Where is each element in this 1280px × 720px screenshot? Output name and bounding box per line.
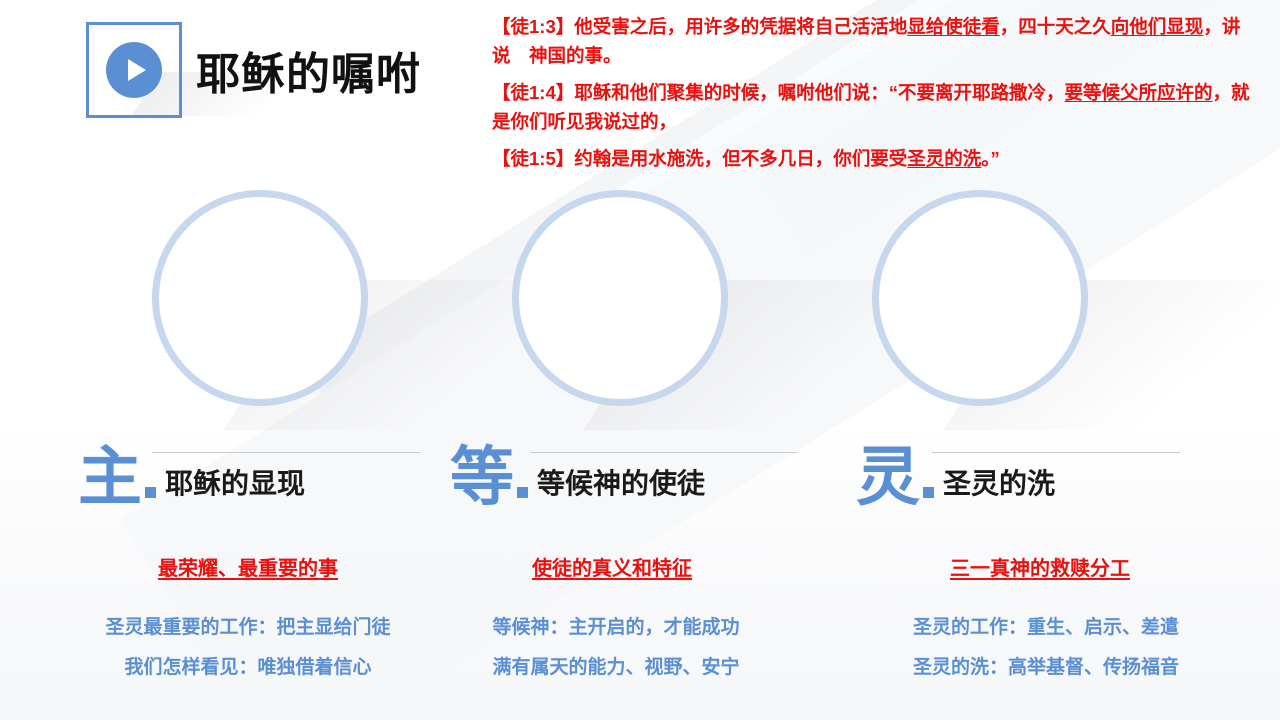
- scripture-emphasis: 圣灵的洗: [907, 148, 981, 169]
- square-dot-icon: [923, 487, 934, 498]
- scripture-text: 。”: [981, 148, 1000, 169]
- frame-corner-icon: [149, 85, 182, 118]
- scripture-text: 约翰是用水施洗，但不多几日，你们要受: [574, 148, 907, 169]
- photo-jesus-appearing: [152, 190, 368, 406]
- play-disc: [106, 42, 162, 98]
- column-subheading: 圣灵的洗: [943, 462, 1055, 507]
- frame-edge: [116, 115, 152, 118]
- scripture-block: 【徒1:3】他受害之后，用许多的凭据将自己活活地显给使徒看，四十天之久向他们显现…: [492, 12, 1254, 173]
- list-item: 我们怎样看见：唯独借着信心: [48, 648, 448, 688]
- column-heading: 等 等候神的使徒: [450, 448, 705, 507]
- play-triangle-icon: [128, 59, 146, 81]
- scripture-text: ，四十天之久: [1000, 16, 1111, 37]
- list-item: 等候神：主开启的，才能成功: [416, 608, 816, 648]
- column-heading: 灵 圣灵的洗: [856, 448, 1055, 507]
- photo-cross-sunrise: [872, 190, 1088, 406]
- column-big-char: 等: [450, 448, 514, 507]
- column-bullets: 等候神：主开启的，才能成功 满有属天的能力、视野、安宁: [416, 608, 816, 688]
- page-title: 耶稣的嘱咐: [196, 38, 421, 102]
- photo-ring: [512, 190, 728, 406]
- list-item: 圣灵的工作：重生、启示、差遣: [846, 608, 1246, 648]
- scripture-text: 他受害之后，用许多的凭据将自己活活地: [574, 16, 907, 37]
- column-subheading: 耶稣的显现: [165, 462, 305, 507]
- column-big-char: 主: [78, 448, 142, 507]
- column-big-char: 灵: [856, 448, 920, 507]
- column-red-line: 三一真神的救赎分工: [840, 552, 1240, 581]
- frame-edge: [179, 52, 182, 88]
- content-columns: 主 耶稣的显现 最荣耀、最重要的事 圣灵最重要的工作：把主显给门徒 我们怎样看见…: [0, 440, 1280, 720]
- photo-ring: [152, 190, 368, 406]
- square-dot-icon: [145, 487, 156, 498]
- column-heading: 主 耶稣的显现: [78, 448, 305, 507]
- list-item: 满有属天的能力、视野、安宁: [416, 648, 816, 688]
- scripture-emphasis: 向他们显现: [1111, 16, 1204, 37]
- scripture-reference: 【徒1:3】: [492, 16, 574, 37]
- column-red-line: 使徒的真义和特征: [412, 552, 812, 581]
- column-bullets: 圣灵的工作：重生、启示、差遣 圣灵的洗：高举基督、传扬福音: [846, 608, 1246, 688]
- column-subheading: 等候神的使徒: [537, 462, 705, 507]
- scripture-reference: 【徒1:5】: [492, 148, 574, 169]
- list-item: 圣灵最重要的工作：把主显给门徒: [48, 608, 448, 648]
- photo-soaring-eagle: [512, 190, 728, 406]
- scripture-text: 耶稣和他们聚集的时候，嘱咐他们说：“不要离开耶路撒冷，: [574, 82, 1064, 103]
- scripture-verse: 【徒1:5】约翰是用水施洗，但不多几日，你们要受圣灵的洗。”: [492, 144, 1254, 173]
- square-dot-icon: [517, 487, 528, 498]
- slide-header: 耶稣的嘱咐 【徒1:3】他受害之后，用许多的凭据将自己活活地显给使徒看，四十天之…: [0, 0, 1280, 175]
- scripture-emphasis: 显给使徒看: [907, 16, 1000, 37]
- title-block: 耶稣的嘱咐: [86, 22, 421, 118]
- column-bullets: 圣灵最重要的工作：把主显给门徒 我们怎样看见：唯独借着信心: [48, 608, 448, 688]
- scripture-verse: 【徒1:4】耶稣和他们聚集的时候，嘱咐他们说：“不要离开耶路撒冷，要等候父所应许…: [492, 78, 1254, 136]
- scripture-emphasis: 要等候父所应许的: [1065, 82, 1213, 103]
- scripture-reference: 【徒1:4】: [492, 82, 574, 103]
- photo-ring: [872, 190, 1088, 406]
- frame-edge: [86, 52, 89, 88]
- frame-edge: [116, 22, 152, 25]
- list-item: 圣灵的洗：高举基督、传扬福音: [846, 648, 1246, 688]
- photo-row: [0, 190, 1280, 440]
- scripture-verse: 【徒1:3】他受害之后，用许多的凭据将自己活活地显给使徒看，四十天之久向他们显现…: [492, 12, 1254, 70]
- play-button-icon: [86, 22, 182, 118]
- column-red-line: 最荣耀、最重要的事: [48, 552, 448, 581]
